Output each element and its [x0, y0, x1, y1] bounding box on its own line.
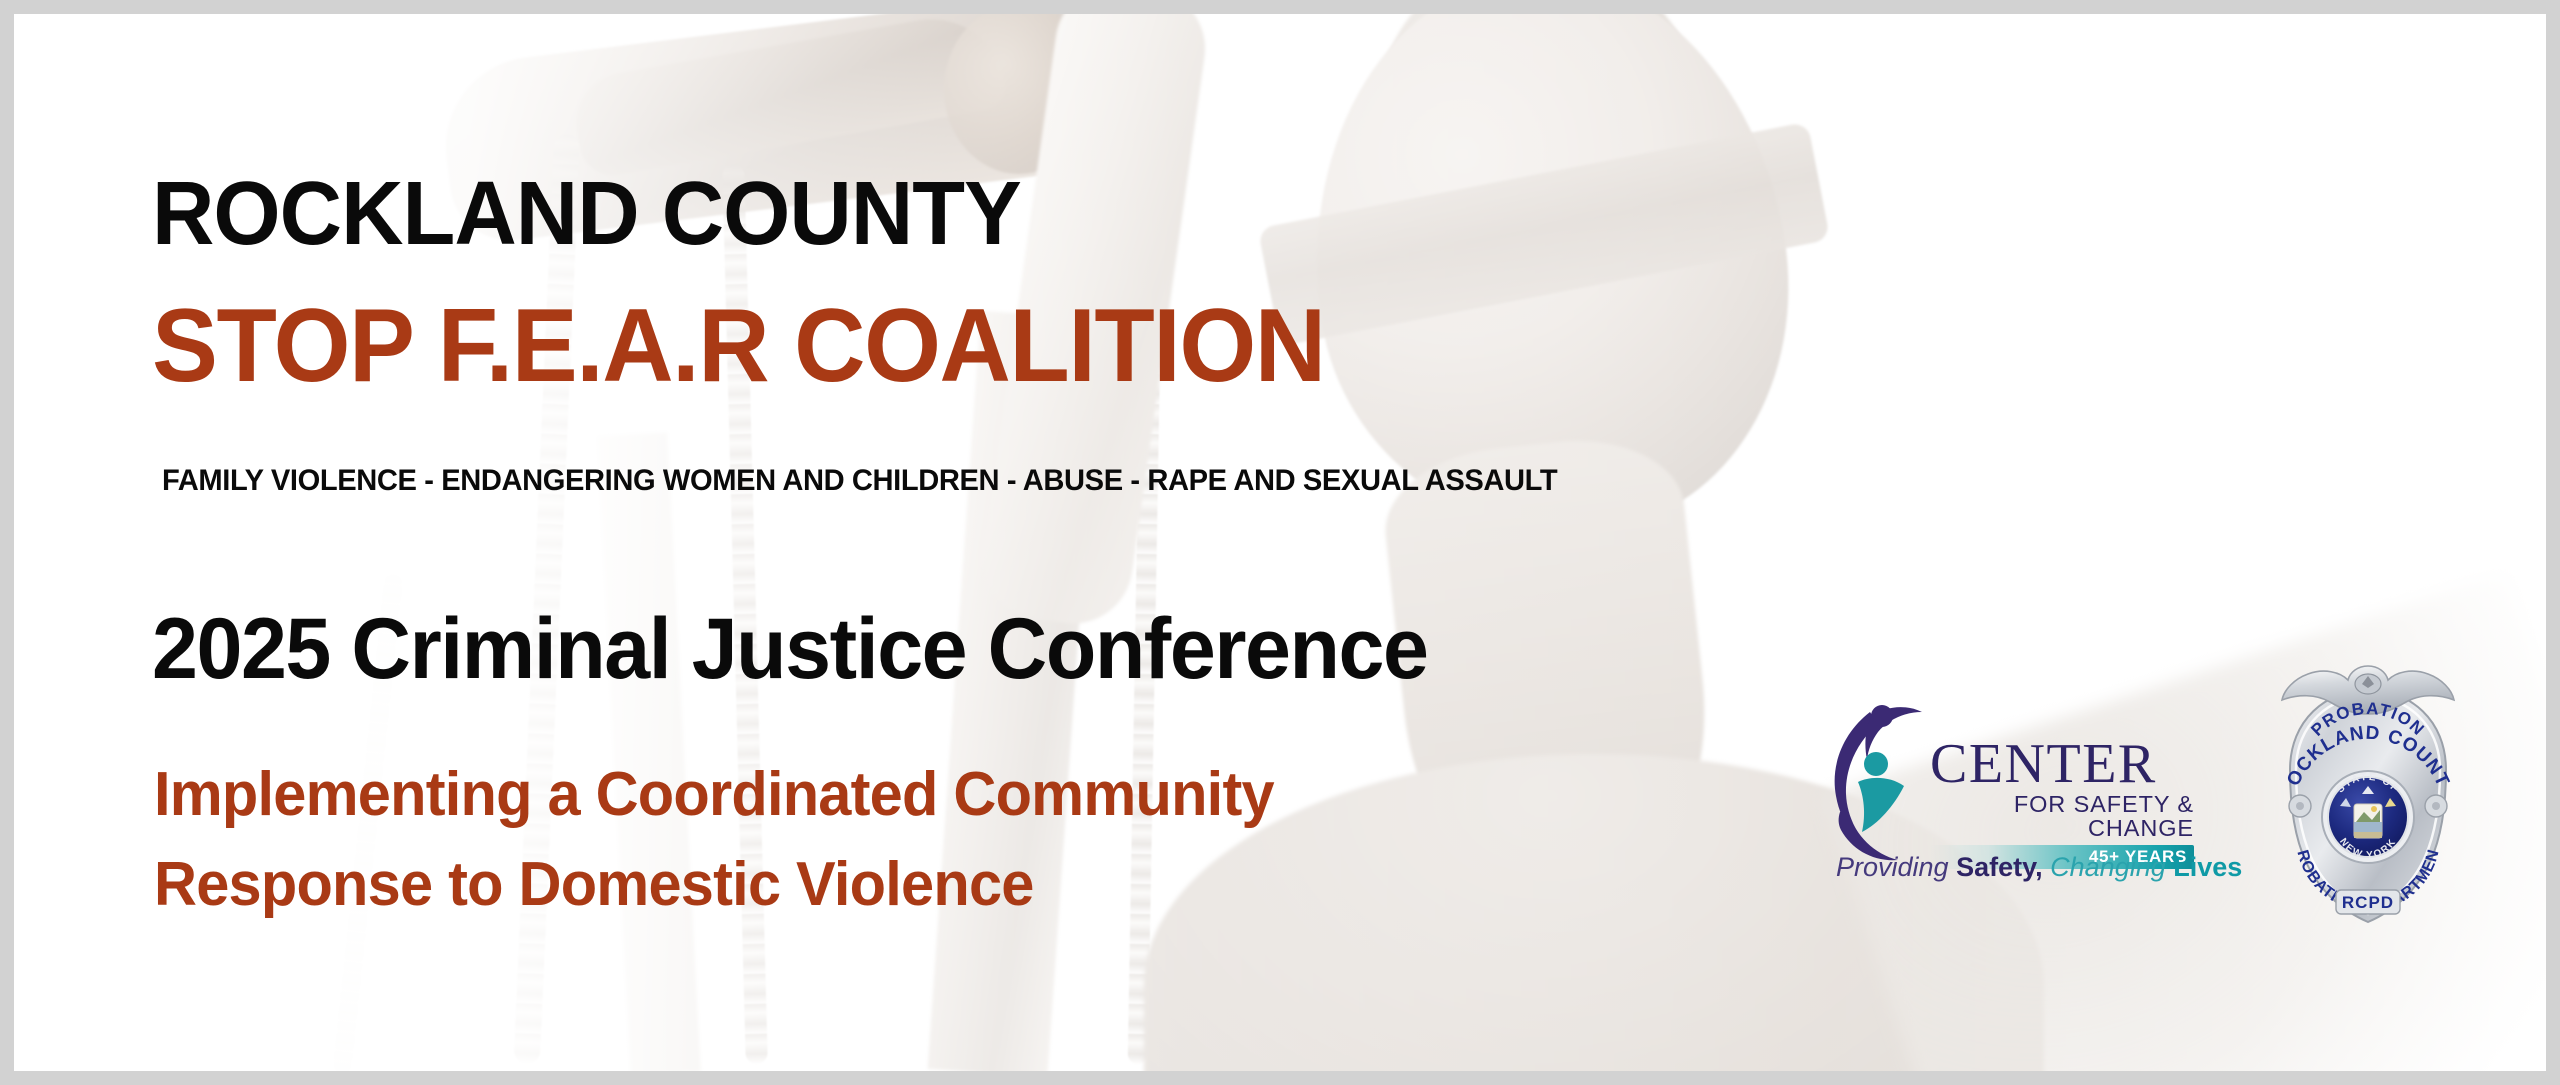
coalition-name: STOP F.E.A.R COALITION: [152, 294, 1325, 398]
statue-blindfold-shape: [1258, 122, 1831, 347]
acronym-tagline: FAMILY VIOLENCE - ENDANGERING WOMEN AND …: [162, 466, 1557, 496]
center-for-safety-and-change-logo: CENTER FOR SAFETY & CHANGE 45+ YEARS Pro…: [1826, 686, 2194, 894]
badge-abbrev-text: RCPD: [2342, 893, 2394, 912]
csc-slogan-word-safety: Safety,: [1956, 852, 2043, 882]
csc-slogan-word-changing: Changing: [2050, 852, 2166, 882]
scales-chain-shape: [1128, 344, 1161, 1064]
rockland-county-probation-badge-icon: PROBATION ROCKLAND COUNTY STATE OF NEW Y…: [2270, 654, 2466, 944]
organization-name: ROCKLAND COUNTY: [152, 169, 1021, 259]
csc-wordmark: CENTER FOR SAFETY & CHANGE 45+ YEARS: [1930, 738, 2194, 869]
csc-slogan: Providing Safety, Changing Lives: [1836, 854, 2194, 881]
conference-subtitle-line-2: Response to Domestic Violence: [154, 854, 1034, 916]
conference-title: 2025 Criminal Justice Conference: [152, 606, 1427, 692]
csc-subtitle: FOR SAFETY & CHANGE: [1930, 793, 2194, 840]
csc-slogan-word-lives: Lives: [2173, 852, 2242, 882]
csc-slogan-word-providing: Providing: [1836, 852, 1949, 882]
scales-chain-shape: [514, 134, 581, 1064]
scales-beam-secondary-shape: [569, 14, 1010, 181]
banner-canvas: ROCKLAND COUNTY STOP F.E.A.R COALITION F…: [14, 14, 2546, 1071]
statue-hair-knot-shape: [1338, 14, 1731, 289]
statue-column-shape: [597, 433, 700, 1071]
scales-pivot-knob-shape: [944, 14, 1094, 174]
conference-subtitle-line-1: Implementing a Coordinated Community: [154, 764, 1274, 826]
person-reaching-figure-icon: [1826, 690, 1944, 865]
csc-name: CENTER: [1930, 738, 2194, 791]
banner-frame: ROCKLAND COUNTY STOP F.E.A.R COALITION F…: [0, 0, 2560, 1085]
